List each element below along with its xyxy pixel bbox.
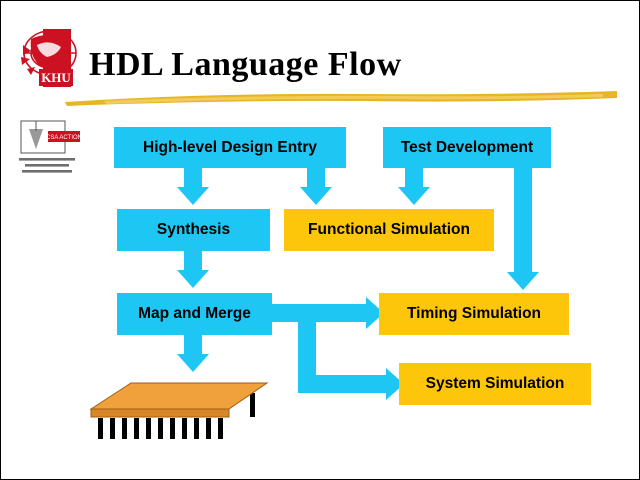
arrow-testdev-to-funcsim (398, 187, 430, 205)
arrow-testdev-to-timingsim (507, 272, 539, 290)
slide-canvas: KHU CSA ACTION HDL Language Flow (0, 0, 640, 480)
connector-testdev-to-timingsim-stem (514, 167, 532, 274)
node-label: System Simulation (426, 375, 565, 392)
arrow-entry-to-funcsim (300, 187, 332, 205)
node-timing-simulation[interactable]: Timing Simulation (379, 293, 569, 335)
node-label: Timing Simulation (407, 305, 541, 322)
node-label: Functional Simulation (308, 221, 470, 238)
node-label: Test Development (401, 139, 533, 156)
node-test-development[interactable]: Test Development (383, 127, 551, 168)
node-functional-simulation[interactable]: Functional Simulation (284, 209, 494, 251)
node-label: Synthesis (157, 221, 230, 238)
connector-synthesis-to-mapmerge-stem (184, 250, 202, 272)
gold-brush-rule (63, 89, 619, 107)
page-title: HDL Language Flow (89, 46, 402, 84)
arrow-synthesis-to-mapmerge (177, 270, 209, 288)
node-map-and-merge[interactable]: Map and Merge (117, 293, 272, 335)
chip-pins (98, 418, 223, 439)
node-system-simulation[interactable]: System Simulation (399, 363, 591, 405)
node-synthesis[interactable]: Synthesis (117, 209, 270, 251)
fpga-chip-graphic (89, 369, 269, 441)
csa-action-badge-text: CSA ACTION (46, 135, 82, 141)
connector-mapmerge-to-chip-stem (184, 334, 202, 356)
connector-branch-to-systemsim-bar (298, 375, 388, 393)
connector-branch-drop (298, 314, 316, 384)
node-label: High-level Design Entry (143, 139, 317, 156)
connector-entry-to-funcsim-stem (307, 167, 325, 189)
node-label: Map and Merge (138, 305, 251, 322)
khu-logo: KHU (17, 25, 87, 91)
khu-logo-text: KHU (41, 70, 71, 85)
connector-mapmerge-to-timingsim-bar (269, 304, 368, 322)
csa-action-logo: CSA ACTION (15, 119, 87, 177)
node-high-level-design-entry[interactable]: High-level Design Entry (114, 127, 346, 168)
connector-testdev-to-funcsim-stem (405, 167, 423, 189)
connector-entry-to-synthesis-stem (184, 167, 202, 189)
arrow-entry-to-synthesis (177, 187, 209, 205)
